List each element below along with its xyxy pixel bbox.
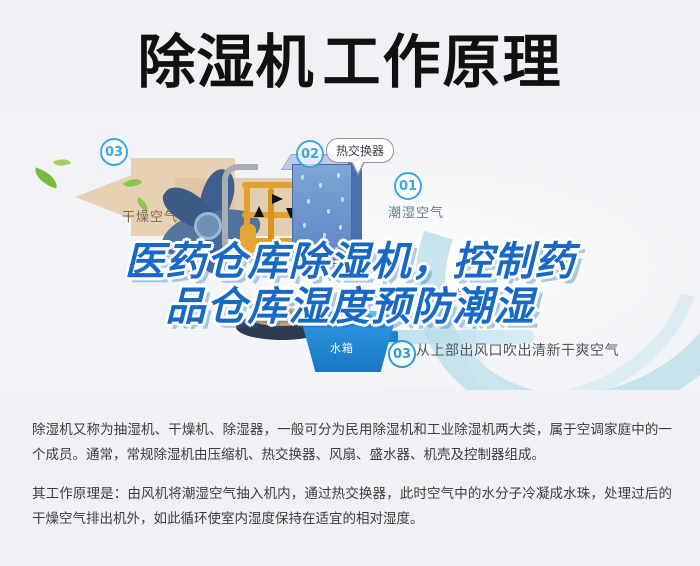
body-copy: 除湿机又称为抽湿机、干燥机、除湿器，一般可分为民用除湿机和工业除湿机两大类，属于… — [32, 418, 672, 546]
condense-label: 器冷凝成水珠 — [388, 286, 463, 303]
body-paragraph-1: 除湿机又称为抽湿机、干燥机、除湿器，一般可分为民用除湿机和工业除湿机两大类，属于… — [32, 418, 672, 468]
outlet-label: 从上部出风口吹出清新干爽空气 — [416, 340, 619, 360]
body-paragraph-2: 其工作原理是：由风机将潮湿空气抽入机内，通过热交换器，此时空气中的水分子冷凝成水… — [32, 482, 672, 532]
title-part-1: 除湿机 — [137, 33, 314, 91]
infographic-page: 除湿机 工作原理 干燥空气 03 — [0, 0, 700, 566]
heat-exchanger-coil — [292, 164, 352, 258]
illustration-stage: 干燥空气 03 — [0, 118, 700, 390]
badge-dry-air: 03 — [100, 138, 128, 166]
badge-heat-exchanger: 02 — [296, 140, 324, 168]
intake-label: 中进风 — [328, 254, 366, 271]
heat-exchanger-callout: 热交换器 — [326, 138, 394, 163]
humid-air-label: 潮湿空气 — [388, 202, 444, 221]
leaf-icon — [31, 167, 60, 188]
badge-humid-air: 01 — [394, 172, 422, 200]
title-part-2: 工作原理 — [323, 33, 563, 91]
water-tank-label: 水箱 — [330, 340, 354, 356]
badge-outlet: 03 — [388, 340, 416, 368]
page-title: 除湿机 工作原理 — [0, 22, 700, 102]
leaf-icon — [53, 155, 71, 170]
